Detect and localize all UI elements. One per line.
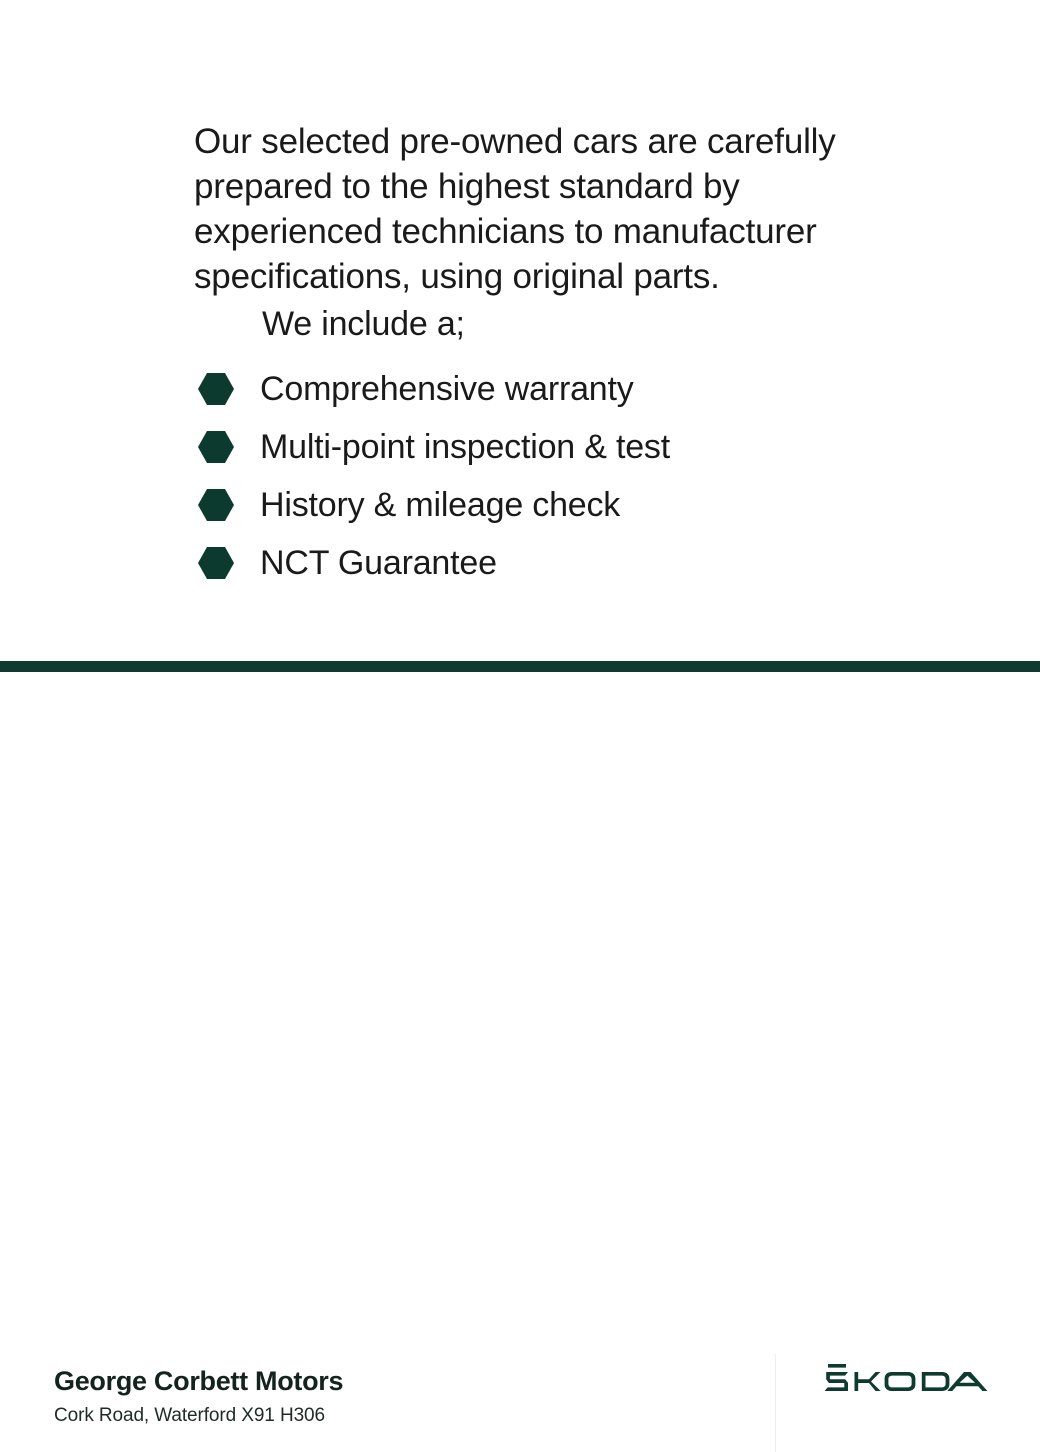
slide-content: Our selected pre-owned cars are carefull… [0,0,1040,662]
include-heading: We include a; [262,302,465,346]
slide-canvas: Our selected pre-owned cars are carefull… [0,0,1040,780]
list-item-label: NCT Guarantee [260,543,497,583]
skoda-wordmark-icon [824,1364,988,1398]
list-item: History & mileage check [198,476,898,534]
benefits-list: Comprehensive warranty Multi-point inspe… [198,360,898,592]
slide-footer: George Corbett Motors Cork Road, Waterfo… [0,672,1040,780]
hexagon-bullet-icon [198,488,234,522]
list-item: Comprehensive warranty [198,360,898,418]
intro-paragraph: Our selected pre-owned cars are carefull… [194,119,874,299]
hexagon-bullet-icon [198,546,234,580]
list-item-label: Comprehensive warranty [260,369,634,409]
hexagon-bullet-icon [198,372,234,406]
list-item: Multi-point inspection & test [198,418,898,476]
hexagon-bullet-icon [198,430,234,464]
footer-vertical-divider [775,1354,776,1452]
footer-divider-bar [0,661,1040,672]
list-item: NCT Guarantee [198,534,898,592]
list-item-label: History & mileage check [260,485,620,525]
dealer-address: Cork Road, Waterford X91 H306 [54,1405,325,1427]
list-item-label: Multi-point inspection & test [260,427,670,467]
dealer-name: George Corbett Motors [54,1366,343,1397]
